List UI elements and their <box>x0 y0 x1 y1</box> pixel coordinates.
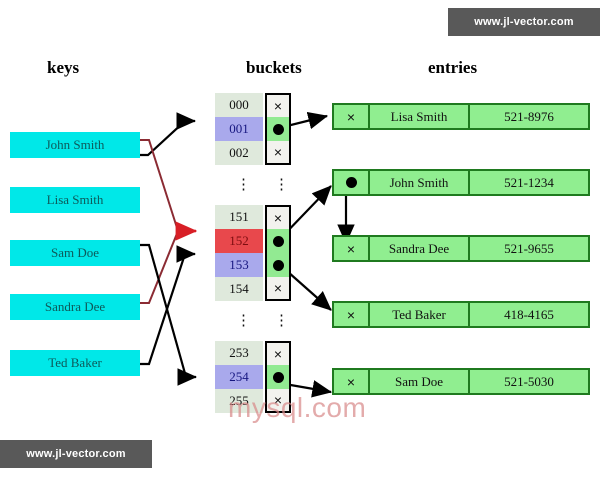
key-box-john-smith[interactable]: John Smith <box>10 132 140 158</box>
null-pointer-icon: × <box>347 110 355 124</box>
entry-row-john-smith[interactable]: John Smith 521-1234 <box>332 169 590 196</box>
bucket-index-151[interactable]: 151 <box>215 205 263 229</box>
bucket-index-ellipsis-upper: ⋮ <box>236 177 251 192</box>
entry-name: Ted Baker <box>370 303 470 326</box>
entry-phone: 521-8976 <box>470 105 588 128</box>
bucket-pointer-154[interactable]: × <box>265 277 291 301</box>
watermark-top-right: www.jl-vector.com <box>448 8 600 36</box>
wire-sam-to-254 <box>140 245 196 377</box>
entry-name: Lisa Smith <box>370 105 470 128</box>
bucket-index-154[interactable]: 154 <box>215 277 263 301</box>
entry-pointer-cell[interactable]: × <box>334 237 370 260</box>
bucket-index-001[interactable]: 001 <box>215 117 263 141</box>
entry-phone: 418-4165 <box>470 303 588 326</box>
link-pointer-icon <box>273 372 284 383</box>
entry-name: Sam Doe <box>370 370 470 393</box>
bucket-index-000[interactable]: 000 <box>215 93 263 117</box>
link-pointer-icon <box>346 177 357 188</box>
link-pointer-icon <box>273 260 284 271</box>
column-header-entries: entries <box>428 58 477 78</box>
key-box-sam-doe[interactable]: Sam Doe <box>10 240 140 266</box>
bucket-pointer-ellipsis-lower: ⋮ <box>274 313 289 328</box>
entry-row-sandra-dee[interactable]: × Sandra Dee 521-9655 <box>332 235 590 262</box>
entry-name: Sandra Dee <box>370 237 470 260</box>
key-box-sandra-dee[interactable]: Sandra Dee <box>10 294 140 320</box>
hash-table-diagram: keys buckets entries John Smith Lisa Smi… <box>0 0 600 480</box>
null-pointer-icon: × <box>274 99 282 113</box>
key-box-lisa-smith[interactable]: Lisa Smith <box>10 187 140 213</box>
key-box-ted-baker[interactable]: Ted Baker <box>10 350 140 376</box>
entry-pointer-cell[interactable]: × <box>334 105 370 128</box>
bucket-pointer-253[interactable]: × <box>265 341 291 365</box>
bucket-pointer-002[interactable]: × <box>265 141 291 165</box>
entry-phone: 521-5030 <box>470 370 588 393</box>
bucket-pointer-153[interactable] <box>265 253 291 277</box>
null-pointer-icon: × <box>274 347 282 361</box>
wire-ted-to-153 <box>140 254 195 364</box>
null-pointer-icon: × <box>347 375 355 389</box>
bucket-index-254[interactable]: 254 <box>215 365 263 389</box>
wire-collision-to-152 <box>140 140 196 303</box>
entry-phone: 521-1234 <box>470 171 588 194</box>
bucket-index-002[interactable]: 002 <box>215 141 263 165</box>
bucket-pointer-152[interactable] <box>265 229 291 253</box>
bucket-index-253[interactable]: 253 <box>215 341 263 365</box>
bucket-pointer-151[interactable]: × <box>265 205 291 229</box>
link-pointer-icon <box>273 124 284 135</box>
null-pointer-icon: × <box>274 211 282 225</box>
null-pointer-icon: × <box>347 308 355 322</box>
bucket-pointer-ellipsis-upper: ⋮ <box>274 177 289 192</box>
watermark-center: mysql.com <box>228 392 366 424</box>
bucket-index-152[interactable]: 152 <box>215 229 263 253</box>
column-header-keys: keys <box>47 58 79 78</box>
entry-pointer-cell[interactable]: × <box>334 303 370 326</box>
link-pointer-icon <box>273 236 284 247</box>
entry-name: John Smith <box>370 171 470 194</box>
entry-row-sam-doe[interactable]: × Sam Doe 521-5030 <box>332 368 590 395</box>
entry-pointer-cell[interactable]: × <box>334 370 370 393</box>
bucket-pointer-254[interactable] <box>265 365 291 389</box>
bucket-index-153[interactable]: 153 <box>215 253 263 277</box>
null-pointer-icon: × <box>347 242 355 256</box>
column-header-buckets: buckets <box>246 58 302 78</box>
null-pointer-icon: × <box>274 145 282 159</box>
bucket-index-ellipsis-lower: ⋮ <box>236 313 251 328</box>
entry-row-ted-baker[interactable]: × Ted Baker 418-4165 <box>332 301 590 328</box>
bucket-pointer-001[interactable] <box>265 117 291 141</box>
bucket-pointer-000[interactable]: × <box>265 93 291 117</box>
watermark-bottom-left: www.jl-vector.com <box>0 440 152 468</box>
wire-lisa-to-001 <box>140 121 195 155</box>
entry-row-lisa-smith[interactable]: × Lisa Smith 521-8976 <box>332 103 590 130</box>
entry-phone: 521-9655 <box>470 237 588 260</box>
null-pointer-icon: × <box>274 281 282 295</box>
entry-pointer-cell[interactable] <box>334 171 370 194</box>
